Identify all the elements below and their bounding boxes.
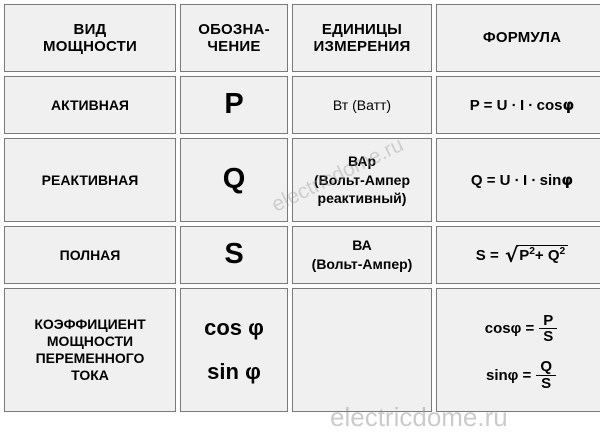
formula-sin-fraction: Q S <box>536 359 556 392</box>
row-label-power-factor: КОЭФФИЦИЕНТ МОЩНОСТИ ПЕРЕМЕННОГО ТОКА <box>4 288 176 412</box>
row-symbol-apparent: S <box>180 226 288 284</box>
row-units-power-factor <box>292 288 432 412</box>
table-row-power-factor: КОЭФФИЦИЕНТ МОЩНОСТИ ПЕРЕМЕННОГО ТОКА co… <box>4 288 600 412</box>
table-row-reactive-power: РЕАКТИВНАЯ Q ВАр (Вольт-Ампер реактивный… <box>4 138 600 222</box>
header-cell-power-type: ВИД МОЩНОСТИ <box>4 4 176 72</box>
formula-cos-denominator: S <box>539 328 557 345</box>
row-units-reactive: ВАр (Вольт-Ампер реактивный) <box>292 138 432 222</box>
formula-cos-lhs: cosφ = <box>485 320 535 337</box>
header-cell-designation: ОБОЗНА- ЧЕНИЕ <box>180 4 288 72</box>
header-cell-units: ЕДИНИЦЫ ИЗМЕРЕНИЯ <box>292 4 432 72</box>
header-designation-line2: ЧЕНИЕ <box>184 38 284 55</box>
row-symbol-cos: cos φ <box>184 313 284 343</box>
row-formula-active: P = U ∙ I ∙ cosφ <box>436 76 600 134</box>
row-units-reactive-line1: ВАр <box>296 152 428 171</box>
header-power-type-line1: ВИД <box>8 21 172 38</box>
power-types-table: ВИД МОЩНОСТИ ОБОЗНА- ЧЕНИЕ ЕДИНИЦЫ ИЗМЕР… <box>0 0 600 416</box>
row-label-power-factor-line2: МОЩНОСТИ <box>8 333 172 350</box>
header-formula-line1: ФОРМУЛА <box>440 29 600 46</box>
row-symbol-power-factor: cos φ sin φ <box>180 288 288 412</box>
formula-cos-numerator: P <box>539 313 557 329</box>
row-label-reactive: РЕАКТИВНАЯ <box>4 138 176 222</box>
sqrt-q: Q <box>548 247 560 264</box>
row-units-active: Вт (Ватт) <box>292 76 432 134</box>
header-units-line1: ЕДИНИЦЫ <box>296 21 428 38</box>
row-formula-apparent: S = √P2+ Q2 <box>436 226 600 284</box>
row-units-apparent-line2: (Вольт-Ампер) <box>296 255 428 274</box>
radical-icon: √ <box>505 243 518 267</box>
header-designation-line1: ОБОЗНА- <box>184 21 284 38</box>
formula-apparent-lhs: S = <box>476 247 499 264</box>
row-label-power-factor-line1: КОЭФФИЦИЕНТ <box>8 316 172 333</box>
row-symbol-reactive: Q <box>180 138 288 222</box>
table-row-apparent-power: ПОЛНАЯ S ВА (Вольт-Ампер) S = √P2+ Q2 <box>4 226 600 284</box>
row-units-reactive-line2: (Вольт-Ампер <box>296 171 428 190</box>
formula-sin-denominator: S <box>536 375 556 392</box>
formula-sin-numerator: Q <box>536 359 556 375</box>
row-formula-reactive: Q = U ∙ I ∙ sinφ <box>436 138 600 222</box>
row-label-power-factor-line4: ТОКА <box>8 367 172 384</box>
row-symbol-sin: sin φ <box>184 357 284 387</box>
sqrt-radicand: P2+ Q2 <box>517 245 568 264</box>
table-header-row: ВИД МОЩНОСТИ ОБОЗНА- ЧЕНИЕ ЕДИНИЦЫ ИЗМЕР… <box>4 4 600 72</box>
formula-sin-lhs: sinφ = <box>486 367 531 384</box>
sqrt-q-exp: 2 <box>560 246 566 257</box>
row-units-apparent: ВА (Вольт-Ампер) <box>292 226 432 284</box>
formula-active-phi: φ <box>562 96 574 114</box>
formula-active-lhs: P = U ∙ I ∙ cos <box>470 97 563 114</box>
header-units-line2: ИЗМЕРЕНИЯ <box>296 38 428 55</box>
row-units-apparent-line1: ВА <box>296 236 428 255</box>
sqrt-p: P <box>519 247 529 264</box>
formula-sin-row: sinφ = Q S <box>440 359 600 392</box>
row-symbol-active: P <box>180 76 288 134</box>
table-row-active-power: АКТИВНАЯ P Вт (Ватт) P = U ∙ I ∙ cosφ <box>4 76 600 134</box>
formula-reactive-phi: φ <box>561 171 573 189</box>
row-label-apparent: ПОЛНАЯ <box>4 226 176 284</box>
formula-cos-fraction: P S <box>539 313 557 346</box>
row-label-power-factor-line3: ПЕРЕМЕННОГО <box>8 350 172 367</box>
sqrt-group: √P2+ Q2 <box>503 245 568 265</box>
row-units-reactive-line3: реактивный) <box>296 189 428 208</box>
power-types-table-container: ВИД МОЩНОСТИ ОБОЗНА- ЧЕНИЕ ЕДИНИЦЫ ИЗМЕР… <box>0 0 600 440</box>
formula-reactive-lhs: Q = U ∙ I ∙ sin <box>471 172 561 189</box>
header-power-type-line2: МОЩНОСТИ <box>8 38 172 55</box>
header-cell-formula: ФОРМУЛА <box>436 4 600 72</box>
sqrt-plus: + <box>535 247 544 264</box>
formula-cos-row: cosφ = P S <box>440 313 600 346</box>
row-formula-power-factor: cosφ = P S sinφ = Q S <box>436 288 600 412</box>
row-label-active: АКТИВНАЯ <box>4 76 176 134</box>
